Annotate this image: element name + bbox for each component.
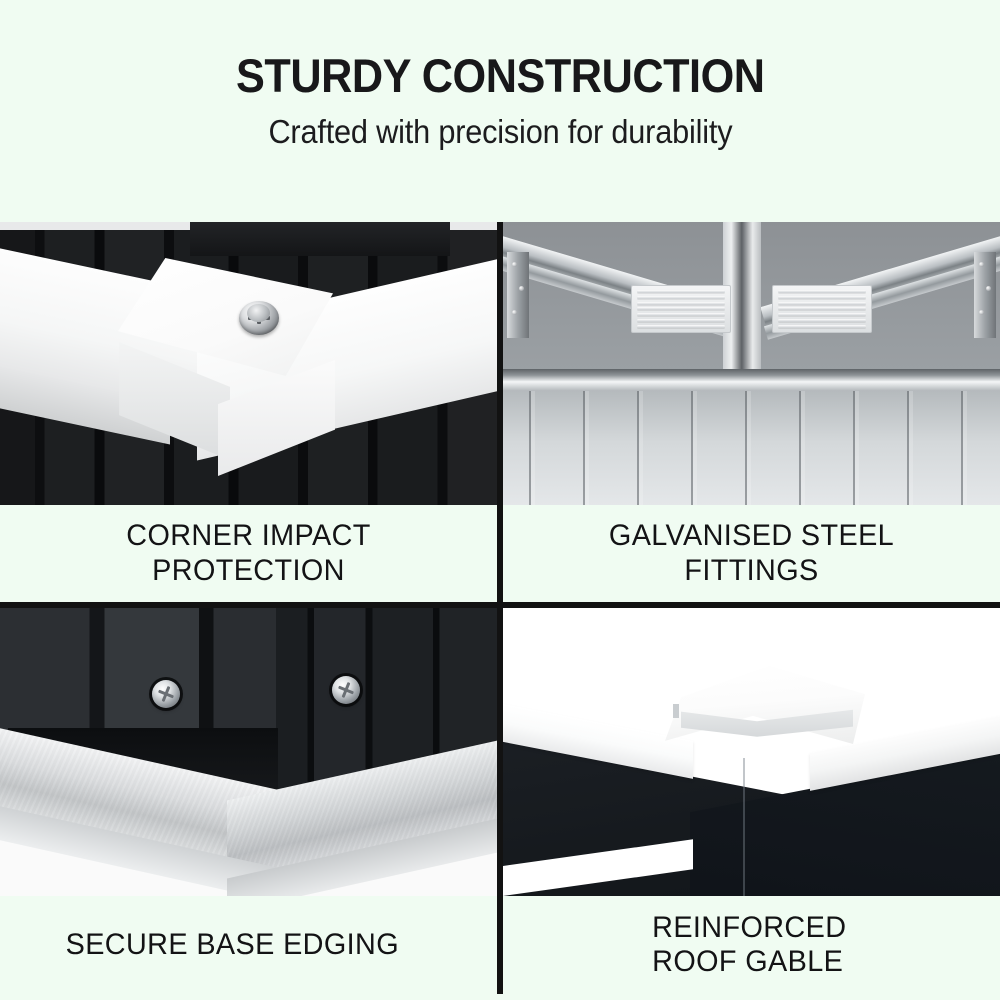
caption-line-1: REINFORCED (652, 911, 846, 946)
feature-grid: CORNER IMPACT PROTECTION (0, 222, 1000, 1000)
feature-caption-reinforced-roof-gable: REINFORCED ROOF GABLE (513, 896, 990, 994)
wall-bracket-left (507, 252, 529, 338)
feature-image-corner-impact-protection (0, 222, 497, 505)
vent-slat (637, 313, 725, 316)
caption-line-1: SECURE BASE EDGING (66, 928, 399, 963)
caption-line-2: PROTECTION (152, 554, 345, 589)
wall-bracket-right (974, 252, 996, 338)
vent-slat (778, 302, 866, 305)
page-subtitle: Crafted with precision for durability (268, 115, 732, 148)
feature-card-corner-impact-protection: CORNER IMPACT PROTECTION (0, 222, 497, 602)
vent-slat (778, 313, 866, 316)
feature-image-galvanised-steel-fittings (503, 222, 1000, 505)
caption-line-2: ROOF GABLE (652, 945, 843, 980)
gable-vent-right (772, 285, 872, 333)
vent-slat (637, 325, 725, 328)
caption-line-1: CORNER IMPACT (126, 519, 370, 554)
bracket-bolt (512, 310, 517, 315)
bracket-bolt (979, 262, 984, 267)
base-bolt-left (152, 680, 180, 708)
roof-panel-seam (743, 758, 745, 896)
bracket-bolt (979, 310, 984, 315)
chrome-screw-head (247, 304, 270, 322)
vent-slat (778, 296, 866, 299)
feature-caption-secure-base-edging: SECURE BASE EDGING (10, 896, 487, 994)
caption-line-1: GALVANISED STEEL (609, 519, 894, 554)
feature-card-reinforced-roof-gable: REINFORCED ROOF GABLE (503, 608, 1000, 994)
vent-slat (637, 290, 725, 293)
shed-upper-shadow (190, 222, 450, 256)
vent-slat (778, 319, 866, 322)
horizontal-support-beam (503, 369, 1000, 391)
vent-slat (778, 290, 866, 293)
vent-slat (637, 302, 725, 305)
bracket-bolt (512, 262, 517, 267)
feature-card-galvanised-steel-fittings: GALVANISED STEEL FITTINGS (503, 222, 1000, 602)
header-banner: STURDY CONSTRUCTION Crafted with precisi… (0, 0, 1000, 222)
vent-slat (637, 307, 725, 310)
feature-caption-corner-impact-protection: CORNER IMPACT PROTECTION (10, 505, 487, 602)
gable-vent-left (631, 285, 731, 333)
vent-slat (778, 307, 866, 310)
vent-slat (637, 319, 725, 322)
page-title: STURDY CONSTRUCTION (236, 52, 765, 99)
base-bolt-right (332, 676, 360, 704)
caption-line-2: FITTINGS (684, 554, 818, 589)
bracket-bolt (519, 286, 524, 291)
feature-image-secure-base-edging (0, 608, 497, 896)
vent-slat (637, 296, 725, 299)
feature-caption-galvanised-steel-fittings: GALVANISED STEEL FITTINGS (513, 505, 990, 602)
ridge-cap-notch (673, 704, 679, 718)
feature-card-secure-base-edging: SECURE BASE EDGING (0, 608, 497, 994)
corrugated-wall-panels (503, 391, 1000, 505)
bracket-bolt (986, 286, 991, 291)
vent-slat (778, 325, 866, 328)
feature-image-reinforced-roof-gable (503, 608, 1000, 896)
